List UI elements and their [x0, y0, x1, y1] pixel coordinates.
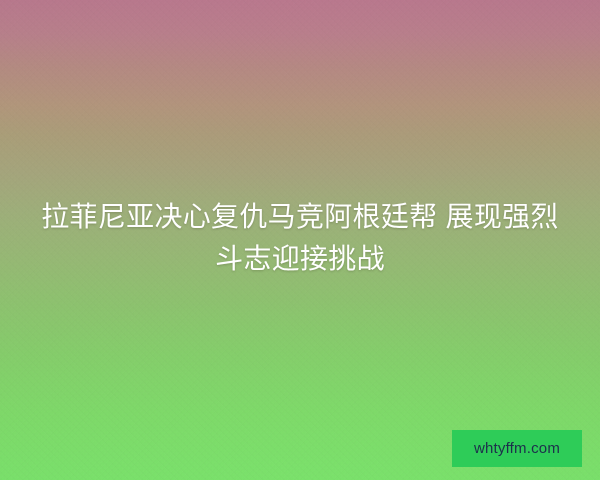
watermark-label: whtyffm.com: [474, 441, 560, 456]
headline-text: 拉菲尼亚决心复仇马竞阿根廷帮 展现强烈斗志迎接挑战: [0, 196, 600, 280]
image-card: 拉菲尼亚决心复仇马竞阿根廷帮 展现强烈斗志迎接挑战 whtyffm.com: [0, 0, 600, 480]
watermark-badge: whtyffm.com: [452, 430, 582, 467]
